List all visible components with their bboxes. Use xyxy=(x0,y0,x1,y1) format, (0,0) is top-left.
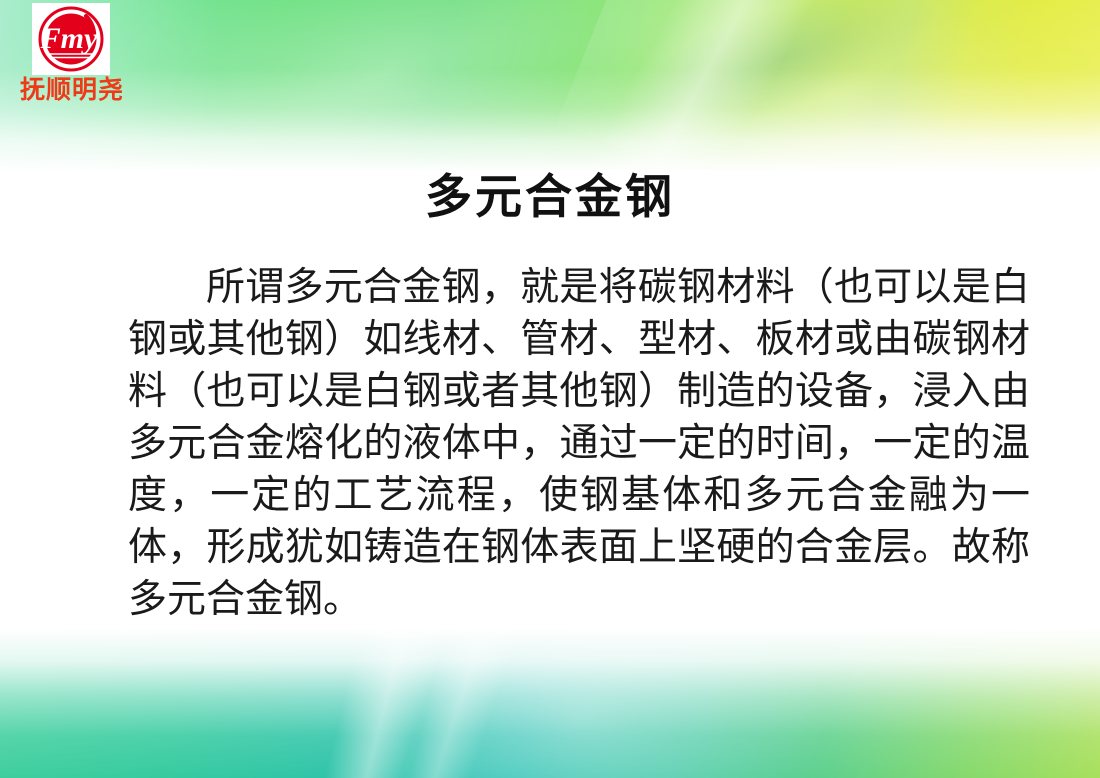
company-logo-icon: Fmy xyxy=(32,3,110,75)
slide-content: 多元合金钢 所谓多元合金钢，就是将碳钢材料（也可以是白钢或其他钢）如线材、管材、… xyxy=(0,0,1100,778)
brand-logo-block: Fmy 抚顺明尧 xyxy=(10,2,140,114)
company-name-label: 抚顺明尧 xyxy=(20,78,140,103)
slide-title: 多元合金钢 xyxy=(0,168,1100,227)
presentation-slide: Fmy 抚顺明尧 多元合金钢 所谓多元合金钢，就是将碳钢材料（也可以是白钢或其他… xyxy=(0,0,1100,778)
svg-text:Fmy: Fmy xyxy=(40,22,98,55)
slide-body-paragraph: 所谓多元合金钢，就是将碳钢材料（也可以是白钢或其他钢）如线材、管材、型材、板材或… xyxy=(128,262,1030,626)
